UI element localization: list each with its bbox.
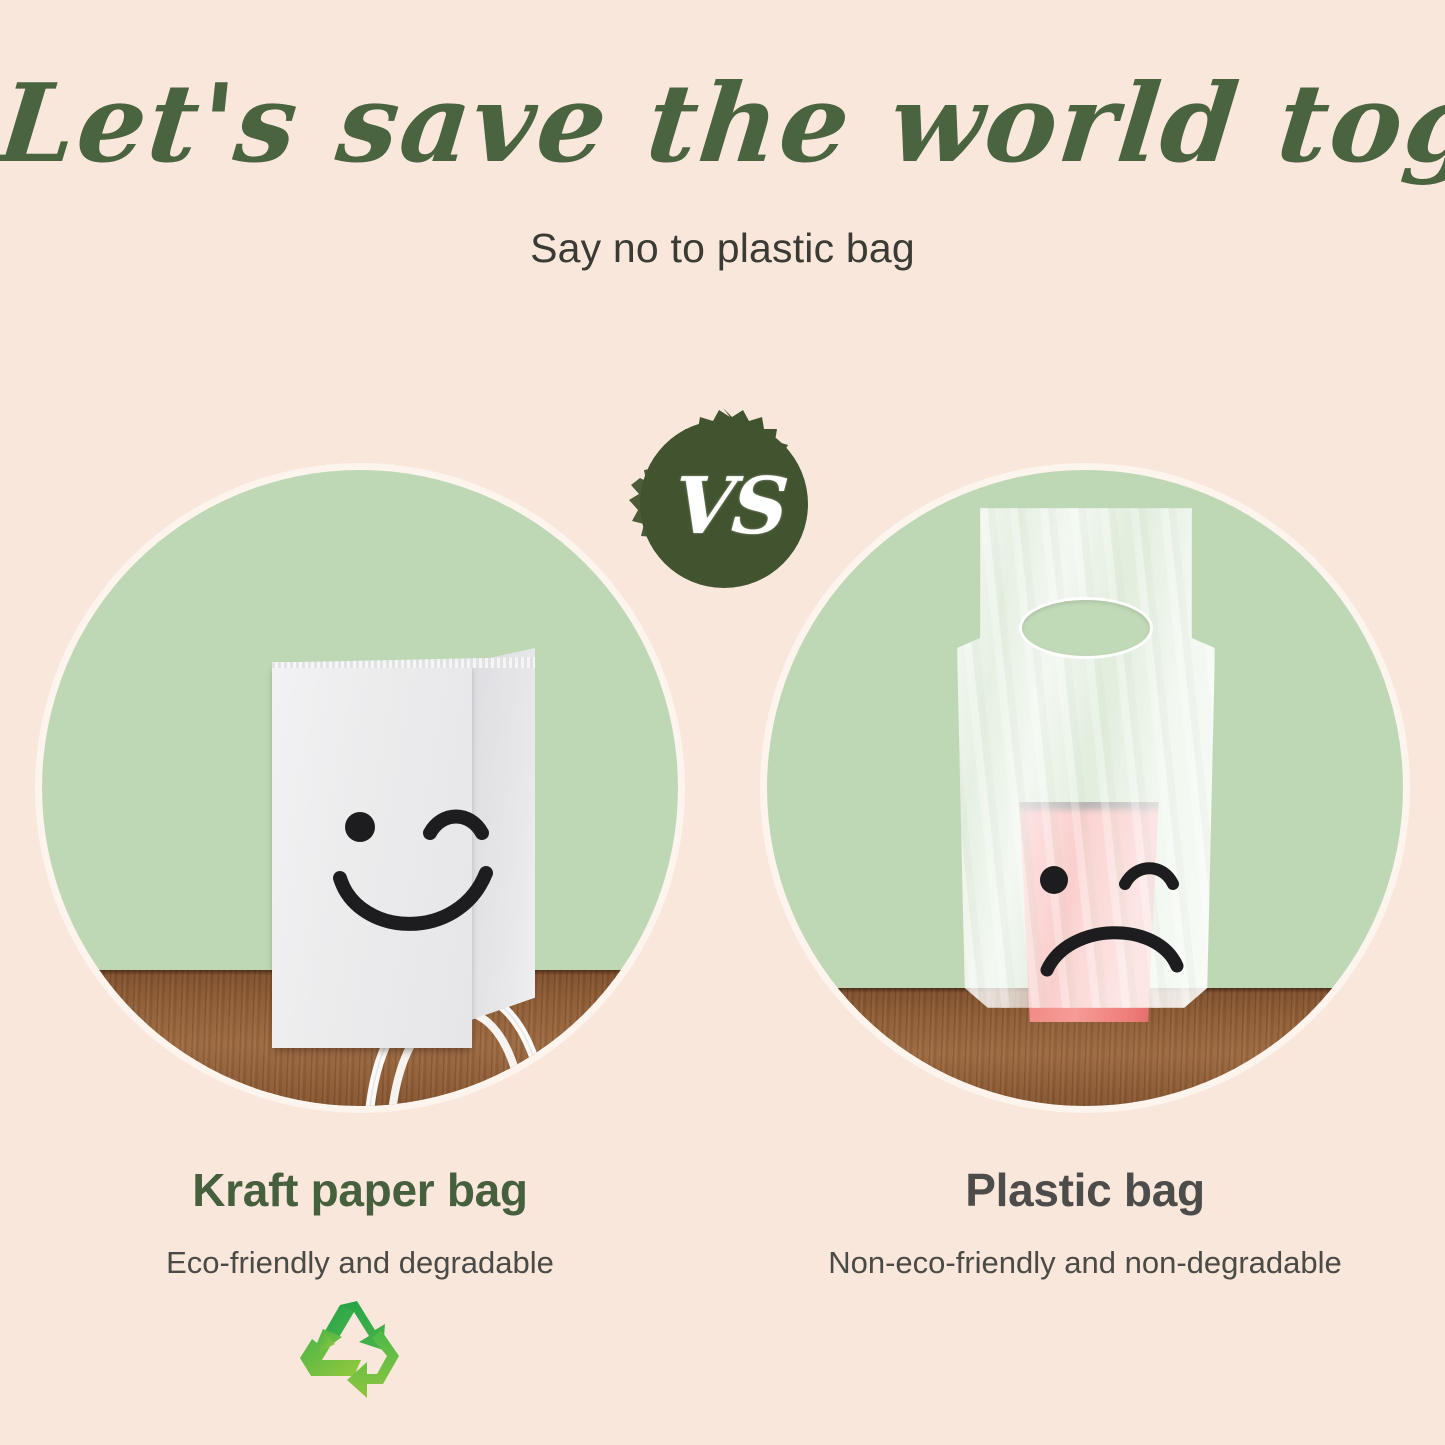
comparison-card-kraft-paper-bag (42, 470, 678, 1106)
caption-title-left: Kraft paper bag (0, 1163, 720, 1217)
comparison-card-plastic-bag (767, 470, 1403, 1106)
caption-kraft-paper-bag: Kraft paper bag Eco-friendly and degrada… (0, 1163, 720, 1281)
die-cut-handle-icon (1022, 600, 1150, 656)
versus-badge: VS (622, 404, 826, 604)
sad-face-icon (1021, 838, 1201, 988)
page-subtitle: Say no to plastic bag (0, 225, 1445, 272)
page-title: Let's save the world together (0, 62, 1445, 186)
caption-plastic-bag: Plastic bag Non-eco-friendly and non-deg… (725, 1163, 1445, 1281)
kraft-bag-scene (42, 470, 678, 1106)
poster-canvas: Let's save the world together Say no to … (0, 0, 1445, 1445)
versus-label: VS (621, 406, 839, 606)
plastic-bag-scene (767, 470, 1403, 1106)
caption-title-right: Plastic bag (725, 1163, 1445, 1217)
caption-description-left: Eco-friendly and degradable (0, 1245, 720, 1281)
caption-description-right: Non-eco-friendly and non-degradable (725, 1245, 1445, 1281)
winking-smiley-face-icon (318, 795, 518, 960)
recycle-icon (295, 1298, 407, 1406)
bag-crimped-edge (272, 657, 535, 668)
